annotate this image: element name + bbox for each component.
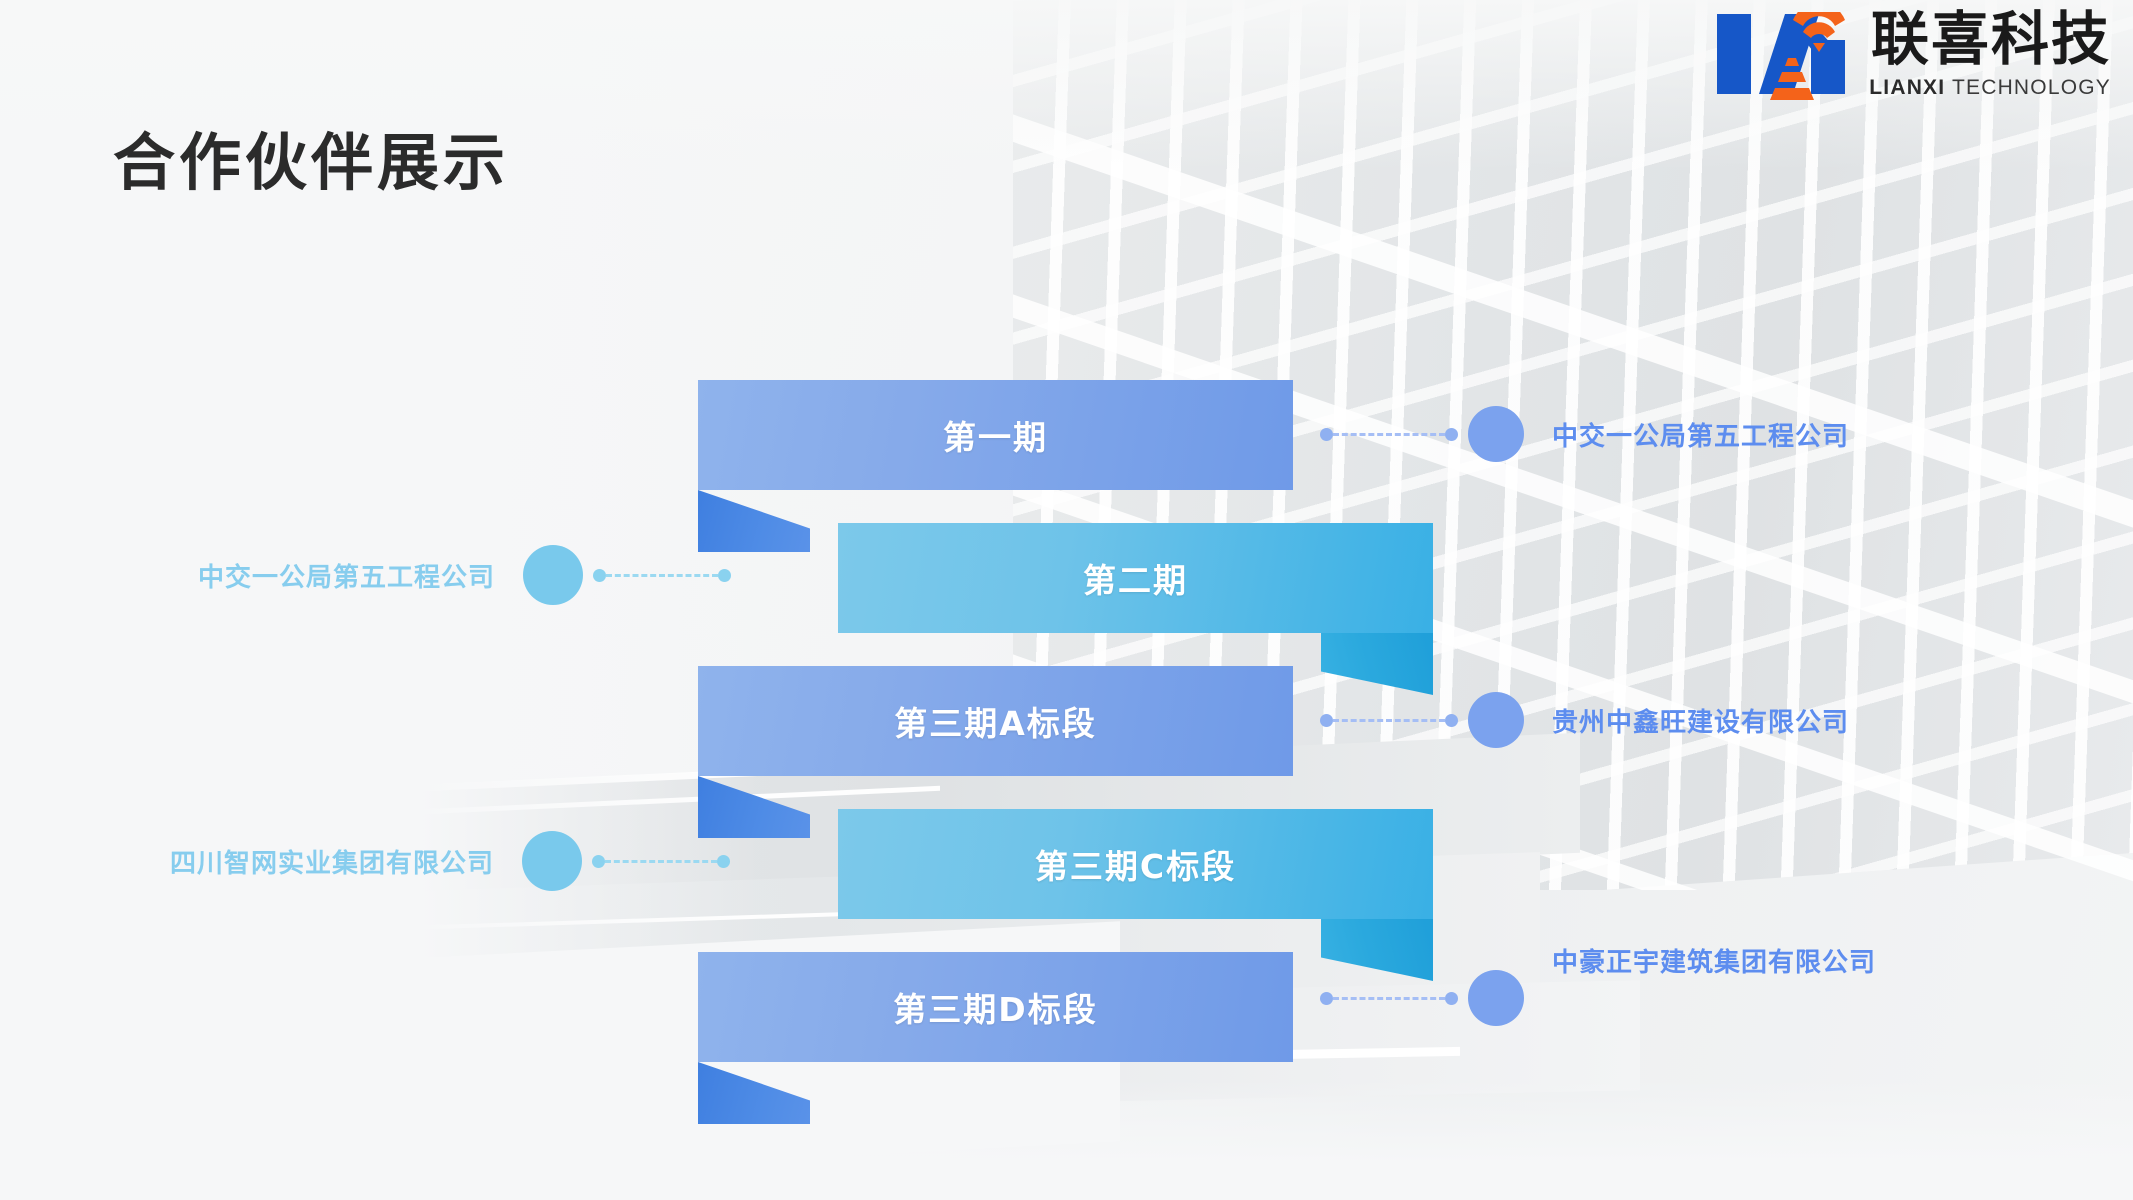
connector-end-dot-icon [1445,428,1458,441]
logo-wifi-arcs-icon [1791,12,1847,54]
banner-bar: 第一期 [698,380,1293,490]
banner-label: 第三期A标段 [894,697,1097,745]
connector-end-dot-icon [718,569,731,582]
banner-bar: 第三期D标段 [698,952,1293,1062]
partner-bullet-icon [1468,970,1524,1026]
connector-dashed-line-icon [1333,997,1445,1000]
connector-start-dot-icon [1320,714,1333,727]
partner-connector-right-2: 贵州中鑫旺建设有限公司 [1320,692,1849,748]
logo-mark-icon [1713,6,1853,102]
partner-name-label: 中交一公局第五工程公司 [1552,416,1849,453]
banner-label: 第三期C标段 [1035,840,1236,888]
banner-bar: 第三期A标段 [698,666,1293,776]
logo-i-bar-icon [1717,14,1751,94]
partner-connector-left-1: 中交一公局第五工程公司 [198,545,731,605]
connector-start-dot-icon [592,855,605,868]
connector-end-dot-icon [717,855,730,868]
logo-english-light: TECHNOLOGY [1945,76,2111,99]
partner-connector-right-3: 中豪正宇建筑集团有限公司 [1320,970,1876,1026]
logo-wordmark: 联喜科技 LIANXI TECHNOLOGY [1869,10,2111,98]
partner-bullet-icon [1468,406,1524,462]
banner-label: 第三期D标段 [893,983,1097,1031]
partner-name-label: 中豪正宇建筑集团有限公司 [1552,942,1876,979]
logo-english-name: LIANXI TECHNOLOGY [1869,77,2111,98]
partner-name-label: 中交一公局第五工程公司 [198,557,495,594]
partner-bullet-icon [522,831,582,891]
connector-end-dot-icon [1445,714,1458,727]
connector-dashed-line-icon [1333,719,1445,722]
banner-bar: 第三期C标段 [838,809,1433,919]
banner-phase-3a[interactable]: 第三期A标段 [698,666,1293,776]
logo-signal-cone-icon [1763,58,1821,102]
partner-bullet-icon [523,545,583,605]
partner-bullet-icon [1468,692,1524,748]
banner-phase-1[interactable]: 第一期 [698,380,1293,490]
connector-end-dot-icon [1445,992,1458,1005]
logo-chinese-name: 联喜科技 [1871,10,2111,68]
connector-start-dot-icon [593,569,606,582]
partner-name-label: 四川智网实业集团有限公司 [170,843,494,880]
connector-start-dot-icon [1320,992,1333,1005]
connector-dashed-line-icon [605,860,717,863]
partner-connector-right-1: 中交一公局第五工程公司 [1320,406,1849,462]
banner-phase-2[interactable]: 第二期 [838,523,1433,633]
banner-phase-3c[interactable]: 第三期C标段 [838,809,1433,919]
banner-phase-3d[interactable]: 第三期D标段 [698,952,1293,1062]
company-logo: 联喜科技 LIANXI TECHNOLOGY [1713,6,2111,102]
connector-dashed-line-icon [606,574,718,577]
connector-dashed-line-icon [1333,433,1445,436]
partner-name-label: 贵州中鑫旺建设有限公司 [1552,702,1849,739]
page-title: 合作伙伴展示 [113,112,509,202]
logo-english-bold: LIANXI [1869,76,1945,99]
connector-start-dot-icon [1320,428,1333,441]
partner-connector-left-2: 四川智网实业集团有限公司 [170,831,730,891]
banner-bar: 第二期 [838,523,1433,633]
banner-label: 第一期 [943,411,1048,459]
banner-label: 第二期 [1083,554,1188,602]
